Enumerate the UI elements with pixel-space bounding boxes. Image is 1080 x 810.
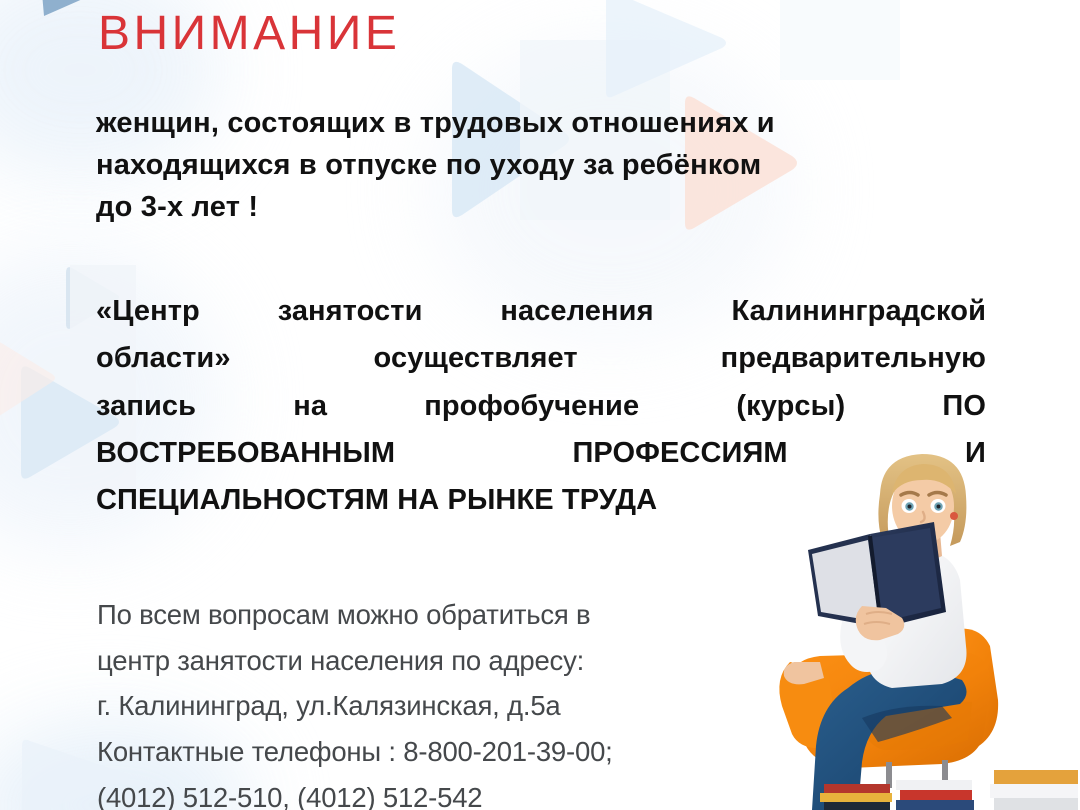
main-line-3: запись на профобучение (курсы) ПО <box>96 383 986 430</box>
book-stack-center <box>896 780 974 810</box>
contact-block: По всем вопросам можно обратиться в цент… <box>97 592 737 810</box>
intro-paragraph: женщин, состоящих в трудовых отношениях … <box>96 103 986 228</box>
intro-line-3: до 3-х лет ! <box>96 187 986 229</box>
book-stack-left <box>820 784 892 810</box>
contact-address-line: г. Калининград, ул.Калязинская, д.5а <box>97 683 737 729</box>
contact-line-1: По всем вопросам можно обратиться в <box>97 592 737 638</box>
contact-phone-line-2: (4012) 512-510, (4012) 512-542 <box>97 775 737 810</box>
intro-line-1: женщин, состоящих в трудовых отношениях … <box>96 103 986 145</box>
contact-line-2: центр занятости населения по адресу: <box>97 638 737 684</box>
book-stack-right <box>990 770 1078 810</box>
main-line-1: «Центр занятости населения Калининградск… <box>96 288 986 335</box>
contact-phone-line-1: Контактные телефоны : 8-800-201-39-00; <box>97 729 737 775</box>
woman-reading-book-illustration <box>766 450 1080 810</box>
intro-line-2: находящихся в отпуске по уходу за ребёнк… <box>96 145 986 187</box>
main-line-2: области» осуществляет предварительную <box>96 335 986 382</box>
page-title: ВНИМАНИЕ <box>98 8 400 61</box>
poster-canvas: ВНИМАНИЕ женщин, состоящих в трудовых от… <box>0 0 1080 810</box>
